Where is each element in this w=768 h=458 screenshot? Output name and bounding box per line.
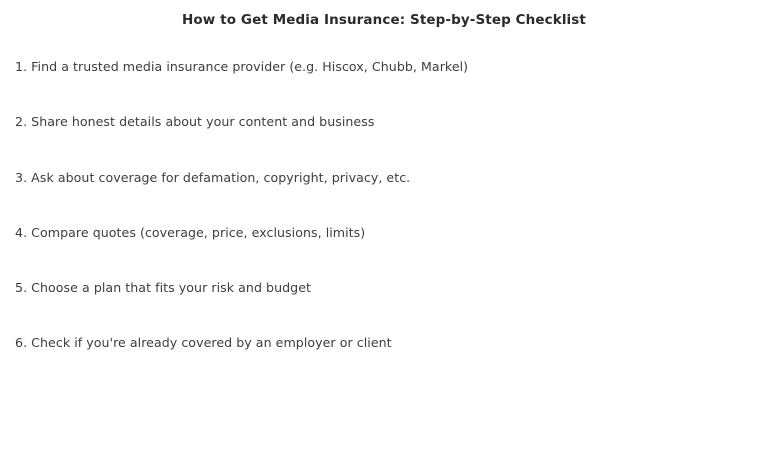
list-item: 6. Check if you're already covered by an… (15, 331, 753, 386)
list-item: 5. Choose a plan that fits your risk and… (15, 276, 753, 331)
list-item-text: 3. Ask about coverage for defamation, co… (15, 170, 410, 185)
list-item-text: 4. Compare quotes (coverage, price, excl… (15, 225, 365, 240)
list-item: 3. Ask about coverage for defamation, co… (15, 166, 753, 221)
list-item: 2. Share honest details about your conte… (15, 110, 753, 165)
checklist: 1. Find a trusted media insurance provid… (15, 55, 753, 387)
list-item: 1. Find a trusted media insurance provid… (15, 55, 753, 110)
list-item-text: 1. Find a trusted media insurance provid… (15, 59, 468, 74)
page-title: How to Get Media Insurance: Step-by-Step… (0, 9, 768, 31)
list-item-text: 6. Check if you're already covered by an… (15, 335, 392, 350)
list-item-text: 5. Choose a plan that fits your risk and… (15, 280, 311, 295)
list-item: 4. Compare quotes (coverage, price, excl… (15, 221, 753, 276)
document-page: How to Get Media Insurance: Step-by-Step… (0, 0, 768, 458)
list-item-text: 2. Share honest details about your conte… (15, 114, 374, 129)
